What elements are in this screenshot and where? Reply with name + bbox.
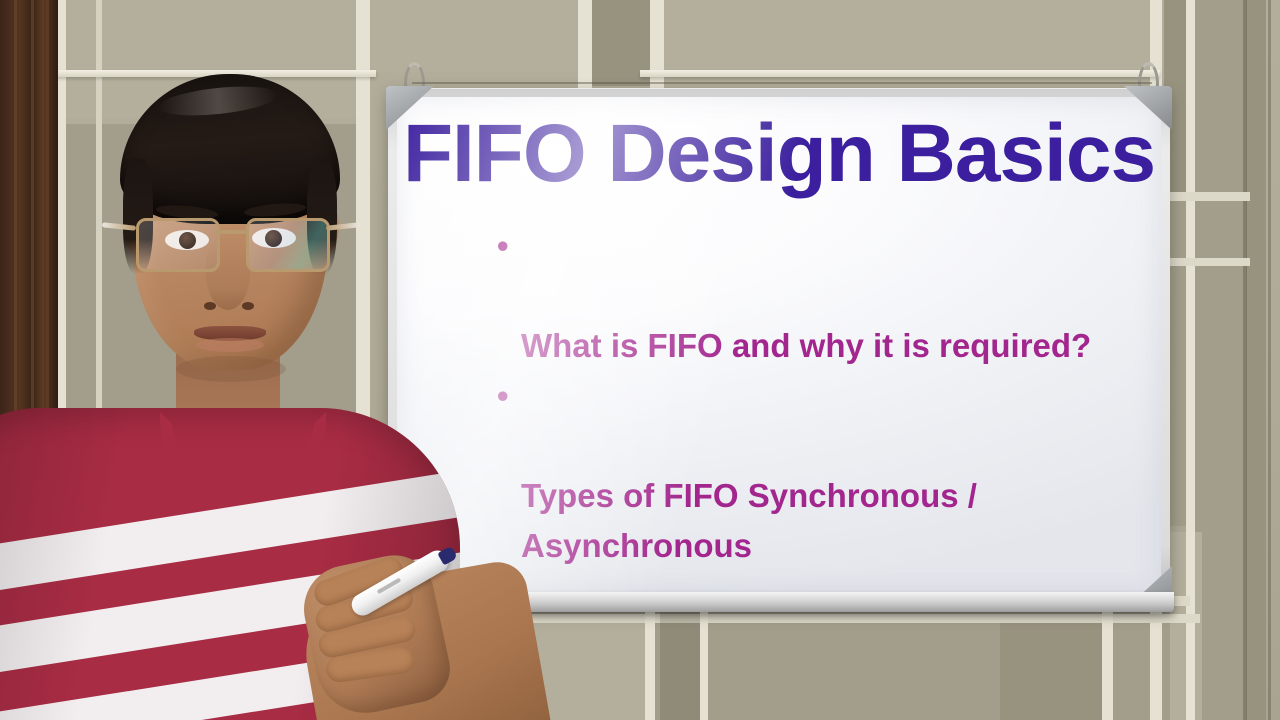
board-bullet-list: • What is FIFO and why it is required? •… — [497, 221, 1149, 594]
board-bullet-item: • Write pointer, Read pointer or Address… — [497, 571, 1149, 594]
glasses-temple-right — [326, 222, 360, 231]
lens-left — [136, 218, 220, 272]
bullet-text: Types of FIFO Synchronous / Asynchronous — [521, 477, 977, 564]
wall-mullion — [1102, 606, 1113, 720]
lower-lip — [196, 338, 264, 352]
hanging-rail — [640, 70, 1160, 77]
wall-mullion — [1186, 0, 1195, 720]
marker-band — [377, 578, 402, 594]
wall-mullion — [700, 606, 708, 720]
board-title: FIFO Design Basics — [397, 113, 1161, 195]
lens-right — [246, 218, 330, 272]
board-bullet-item: • Types of FIFO Synchronous / Asynchrono… — [497, 371, 1149, 571]
wall-mullion — [578, 0, 592, 88]
glasses-temple-left — [102, 222, 136, 231]
wall-mullion — [645, 606, 655, 720]
whiteboard: FIFO Design Basics • What is FIFO and wh… — [388, 88, 1170, 608]
bullet-dot-icon: • — [497, 371, 509, 421]
wall-shadow — [660, 606, 700, 720]
bullet-text: What is FIFO and why it is required? — [521, 327, 1091, 364]
nostril-left — [204, 302, 216, 310]
bullet-dot-icon: • — [497, 221, 509, 271]
eyeglasses — [130, 212, 332, 276]
board-bullet-item: • What is FIFO and why it is required? — [497, 221, 1149, 371]
wall-lower-panel — [1000, 614, 1105, 720]
wall-shadow — [1268, 0, 1271, 720]
presenter — [0, 40, 480, 720]
whiteboard-content: FIFO Design Basics • What is FIFO and wh… — [397, 97, 1161, 594]
wall-panel — [664, 0, 1162, 72]
hanging-wire — [412, 82, 1152, 84]
video-frame: FIFO Design Basics • What is FIFO and wh… — [0, 0, 1280, 720]
chin-shadow — [176, 356, 286, 382]
nostril-right — [242, 302, 254, 310]
wall-panel — [1246, 0, 1266, 720]
glasses-bridge — [214, 230, 246, 234]
wall-shadow — [1243, 0, 1247, 720]
